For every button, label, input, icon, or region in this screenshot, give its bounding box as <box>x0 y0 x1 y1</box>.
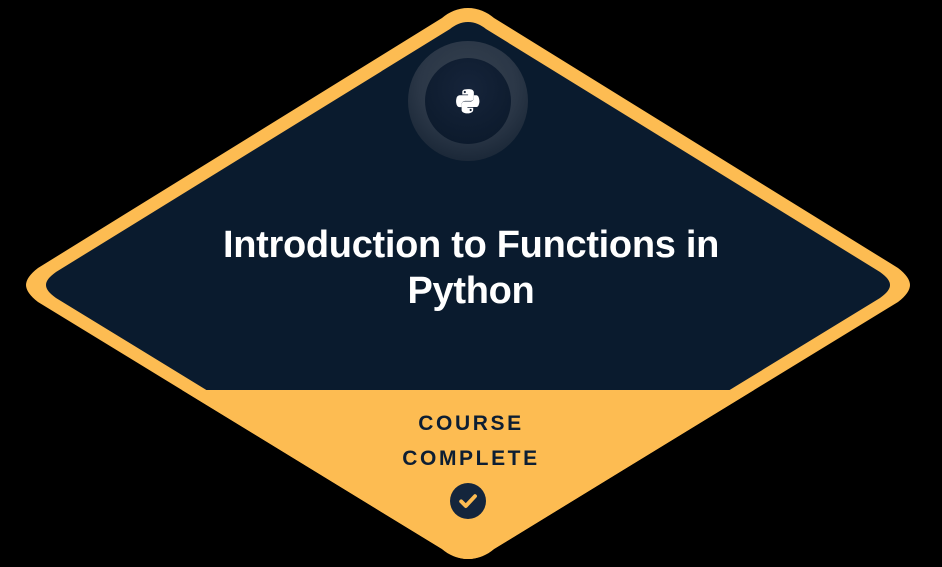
completion-status: COURSE COMPLETE <box>181 406 761 476</box>
logo-inner-circle <box>425 58 511 144</box>
check-circle-icon <box>450 483 486 519</box>
badge-canvas: Introduction to Functions in Python COUR… <box>0 0 942 567</box>
course-title: Introduction to Functions in Python <box>181 222 761 314</box>
status-line-course: COURSE <box>181 406 761 441</box>
python-logo-group <box>408 41 528 161</box>
status-line-complete: COMPLETE <box>181 441 761 476</box>
